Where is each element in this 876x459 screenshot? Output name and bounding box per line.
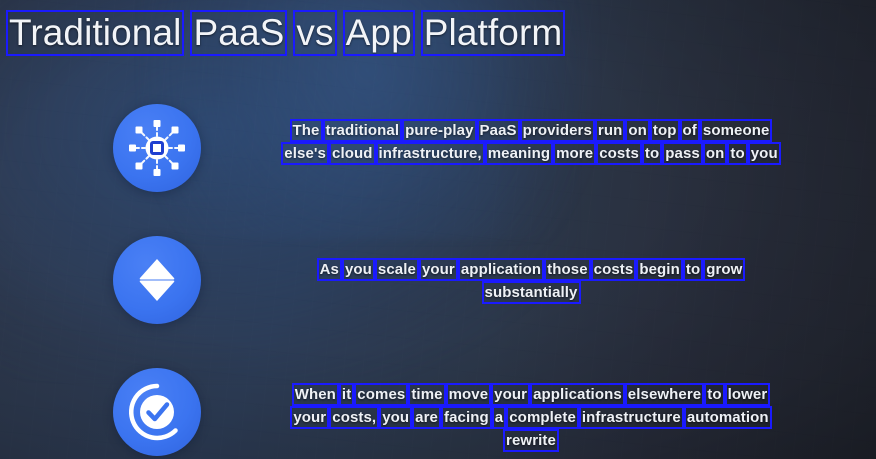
ocr-word: grow [705, 260, 743, 279]
ocr-word: scale [377, 260, 417, 279]
ocr-word: pure-play [404, 121, 474, 140]
ocr-word: time [410, 385, 443, 404]
ocr-word: substantially [484, 283, 579, 302]
text-line: substantially [246, 283, 816, 306]
bullet-text-2: Asyouscaleyourapplicationthosecostsbegin… [246, 260, 816, 306]
ocr-word: begin [638, 260, 681, 279]
text-line: rewrite [246, 431, 816, 454]
ocr-word: of [682, 121, 698, 140]
ocr-word: to [706, 385, 722, 404]
ocr-word: comes [356, 385, 406, 404]
ocr-word: your [292, 408, 327, 427]
ocr-word: providers [522, 121, 593, 140]
bullet-text-3: Whenitcomestimemoveyourapplicationselsew… [246, 385, 816, 454]
ocr-word: costs [593, 260, 635, 279]
network-hub-icon [113, 104, 201, 192]
ocr-word: to [685, 260, 701, 279]
ocr-word: else's [283, 144, 327, 163]
scale-up-down-icon [113, 236, 201, 324]
ocr-word: you [344, 260, 373, 279]
ocr-word: on [705, 144, 726, 163]
ocr-word: application [460, 260, 542, 279]
ocr-word: elsewhere [627, 385, 702, 404]
ocr-word: complete [508, 408, 577, 427]
ocr-word: are [414, 408, 439, 427]
ocr-word: your [493, 385, 528, 404]
ocr-word: infrastructure, [378, 144, 483, 163]
text-line: Asyouscaleyourapplicationthosecostsbegin… [246, 260, 816, 283]
ocr-word: someone [702, 121, 771, 140]
ocr-word: those [546, 260, 589, 279]
ocr-word: to [729, 144, 745, 163]
ocr-word: run [597, 121, 623, 140]
text-line: yourcosts,youarefacingacompleteinfrastru… [246, 408, 816, 431]
ocr-word: on [627, 121, 648, 140]
bullet-text-1: Thetraditionalpure-playPaaSprovidersruno… [246, 121, 816, 167]
ocr-word: more [555, 144, 594, 163]
ocr-word: As [319, 260, 340, 279]
ocr-word: top [652, 121, 678, 140]
text-line: else'scloudinfrastructure,meaningmorecos… [246, 144, 816, 167]
ocr-word: meaning [487, 144, 551, 163]
ocr-word: infrastructure [581, 408, 682, 427]
ocr-word: pass [664, 144, 701, 163]
title-word: Platform [423, 12, 564, 54]
check-circle-refresh-icon [113, 368, 201, 456]
ocr-word: to [644, 144, 660, 163]
ocr-word: facing [443, 408, 490, 427]
slide-canvas: Traditional PaaS vs App Platform [0, 0, 876, 459]
text-line: Thetraditionalpure-playPaaSprovidersruno… [246, 121, 816, 144]
title-word: App [345, 12, 413, 54]
title-word: PaaS [192, 12, 285, 54]
ocr-word: your [421, 260, 456, 279]
ocr-word: it [341, 385, 352, 404]
ocr-word: When [294, 385, 337, 404]
ocr-word: The [292, 121, 321, 140]
ocr-word: PaaS [479, 121, 518, 140]
ocr-word: costs [598, 144, 640, 163]
ocr-word: traditional [325, 121, 401, 140]
ocr-word: a [494, 408, 504, 427]
ocr-word: cloud [331, 144, 374, 163]
ocr-word: you [381, 408, 410, 427]
ocr-word: lower [727, 385, 769, 404]
ocr-word: you [750, 144, 779, 163]
title-word: vs [295, 12, 334, 54]
ocr-word: costs, [331, 408, 377, 427]
ocr-word: applications [532, 385, 623, 404]
slide-title: Traditional PaaS vs App Platform [8, 12, 563, 54]
ocr-word: automation [686, 408, 770, 427]
ocr-word: rewrite [505, 431, 557, 450]
text-line: Whenitcomestimemoveyourapplicationselsew… [246, 385, 816, 408]
ocr-word: move [448, 385, 490, 404]
title-word: Traditional [8, 12, 182, 54]
